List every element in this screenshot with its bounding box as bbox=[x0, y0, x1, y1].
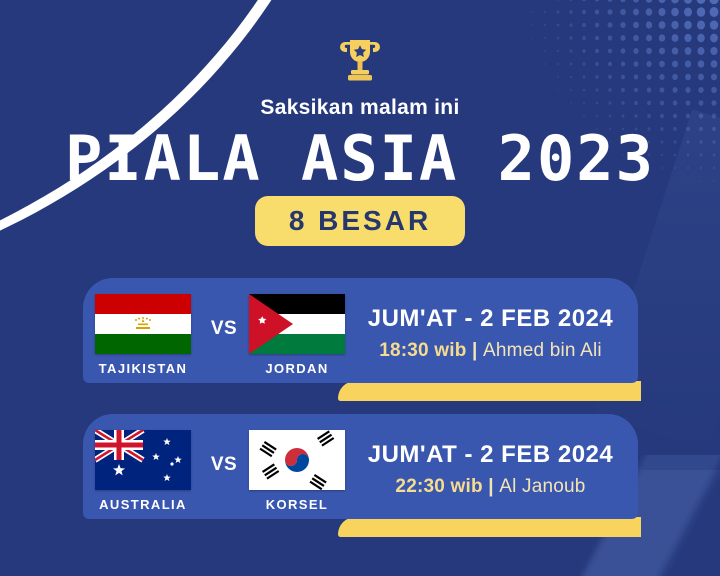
flag-australia-icon bbox=[95, 430, 191, 490]
match-info: JUM'AT - 2 FEB 2024 18:30 wib | Ahmed bi… bbox=[348, 305, 633, 362]
away-team: KORSEL bbox=[247, 430, 347, 512]
away-team-name: JORDAN bbox=[247, 361, 347, 376]
versus-label: VS bbox=[201, 454, 247, 476]
poster-root: Saksikan malam ini PIALA ASIA 2023 8 BES… bbox=[0, 0, 720, 576]
flag-tajikistan-icon bbox=[95, 294, 191, 354]
match-date: JUM'AT - 2 FEB 2024 bbox=[348, 305, 633, 333]
match-card-body: AUSTRALIA VS bbox=[83, 414, 638, 519]
match-card-body: TAJIKISTAN VS JORDAN JUM'AT - 2 FEB 2024… bbox=[83, 278, 638, 383]
home-team-name: AUSTRALIA bbox=[93, 497, 193, 512]
home-team: AUSTRALIA bbox=[93, 430, 193, 512]
away-team: JORDAN bbox=[247, 294, 347, 376]
page-title: PIALA ASIA 2023 bbox=[0, 122, 720, 195]
versus-label: VS bbox=[201, 318, 247, 340]
flag-jordan-icon bbox=[249, 294, 345, 354]
eyebrow-text: Saksikan malam ini bbox=[0, 96, 720, 120]
match-venue: Ahmed bin Ali bbox=[483, 340, 602, 361]
home-team-name: TAJIKISTAN bbox=[93, 361, 193, 376]
card-accent-bar bbox=[338, 381, 641, 401]
trophy-icon bbox=[0, 36, 720, 88]
match-time-venue: 18:30 wib | Ahmed bin Ali bbox=[348, 340, 633, 362]
away-team-name: KORSEL bbox=[247, 497, 347, 512]
stage-badge-label: 8 BESAR bbox=[289, 205, 431, 237]
stage-badge: 8 BESAR bbox=[255, 196, 465, 246]
match-separator: | bbox=[472, 340, 478, 361]
match-info: JUM'AT - 2 FEB 2024 22:30 wib | Al Janou… bbox=[348, 441, 633, 498]
flag-south-korea-icon bbox=[249, 430, 345, 490]
match-time-venue: 22:30 wib | Al Janoub bbox=[348, 476, 633, 498]
match-time: 18:30 wib bbox=[379, 340, 466, 361]
card-accent-bar bbox=[338, 517, 641, 537]
match-date: JUM'AT - 2 FEB 2024 bbox=[348, 441, 633, 469]
home-team: TAJIKISTAN bbox=[93, 294, 193, 376]
match-separator: | bbox=[488, 476, 494, 497]
match-time: 22:30 wib bbox=[395, 476, 482, 497]
match-venue: Al Janoub bbox=[499, 476, 585, 497]
